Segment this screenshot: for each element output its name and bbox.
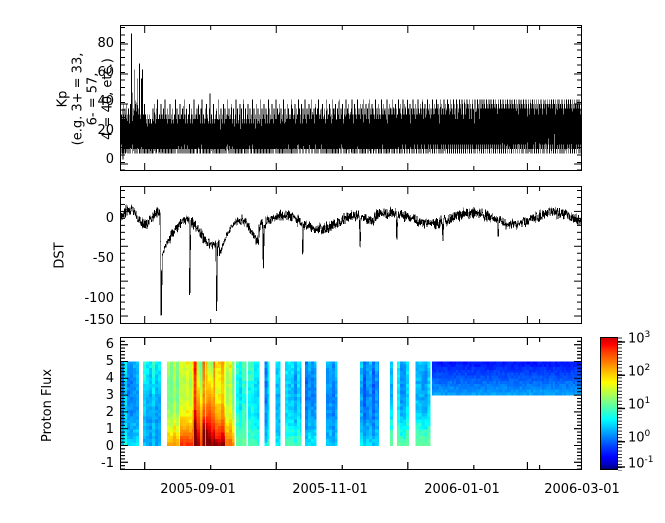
pf-ytick-0: 0: [82, 439, 114, 454]
kp-ytick-80: 80: [78, 36, 114, 51]
panel-proton-flux-ylabel: Proton Flux: [18, 350, 78, 460]
xtick-2006-03-01: 2006-03-01: [527, 482, 637, 497]
pf-ytick-minus1: -1: [82, 456, 114, 471]
kp-plot-area: [121, 26, 581, 170]
pf-ytick-3: 3: [82, 388, 114, 403]
dst-ytick-minus50: -50: [70, 251, 114, 266]
panel-kp: [120, 25, 582, 171]
colorbar-label-1e1: 101: [628, 396, 650, 412]
panel-proton-flux-ylabel-text: Proton Flux: [41, 368, 56, 441]
colorbar-label-mantissa: 10: [628, 364, 645, 379]
proton-flux-plot-area: [121, 338, 581, 469]
panel-kp-ylabel-line-1: Kp: [55, 53, 70, 146]
kp-ytick-0: 0: [78, 152, 114, 167]
kp-ytick-20: 20: [78, 123, 114, 138]
colorbar-label-exponent: 2: [645, 363, 651, 373]
panel-proton-flux: [120, 337, 582, 470]
colorbar-label-mantissa: 10: [628, 397, 645, 412]
kp-ytick-40: 40: [78, 94, 114, 109]
dst-ytick-minus100: -100: [70, 291, 114, 306]
pf-ytick-2: 2: [82, 405, 114, 420]
xtick-2005-11-01: 2005-11-01: [275, 482, 385, 497]
dst-ytick-0: 0: [70, 211, 114, 226]
kp-ytick-60: 60: [78, 65, 114, 80]
panel-dst: [120, 186, 582, 324]
pf-ytick-1: 1: [82, 422, 114, 437]
panel-dst-ylabel-text: DST: [52, 242, 67, 268]
colorbar-label-1e-1: 10-1: [628, 455, 654, 471]
colorbar-label-mantissa: 10: [628, 430, 645, 445]
colorbar-label-1e3: 103: [628, 330, 650, 346]
figure-canvas: Kp (e.g. 3+ = 33, 6- = 57, 4 = 40, etc.)…: [0, 0, 665, 523]
colorbar-label-1e0: 100: [628, 429, 650, 445]
dst-ytick-minus150: -150: [70, 313, 114, 328]
colorbar-label-exponent: 0: [645, 429, 651, 439]
colorbar-label-1e2: 102: [628, 363, 650, 379]
pf-ytick-5: 5: [82, 354, 114, 369]
colorbar-label-exponent: 3: [645, 330, 651, 340]
colorbar-label-exponent: 1: [645, 396, 651, 406]
pf-ytick-4: 4: [82, 371, 114, 386]
dst-plot-area: [121, 187, 581, 323]
xtick-2005-09-01: 2005-09-01: [143, 482, 253, 497]
colorbar-label-mantissa: 10: [628, 456, 645, 471]
pf-ytick-6: 6: [82, 337, 114, 352]
colorbar-label-exponent: -1: [645, 455, 654, 465]
xtick-2006-01-01: 2006-01-01: [407, 482, 517, 497]
colorbar-label-mantissa: 10: [628, 331, 645, 346]
colorbar: [600, 337, 618, 470]
